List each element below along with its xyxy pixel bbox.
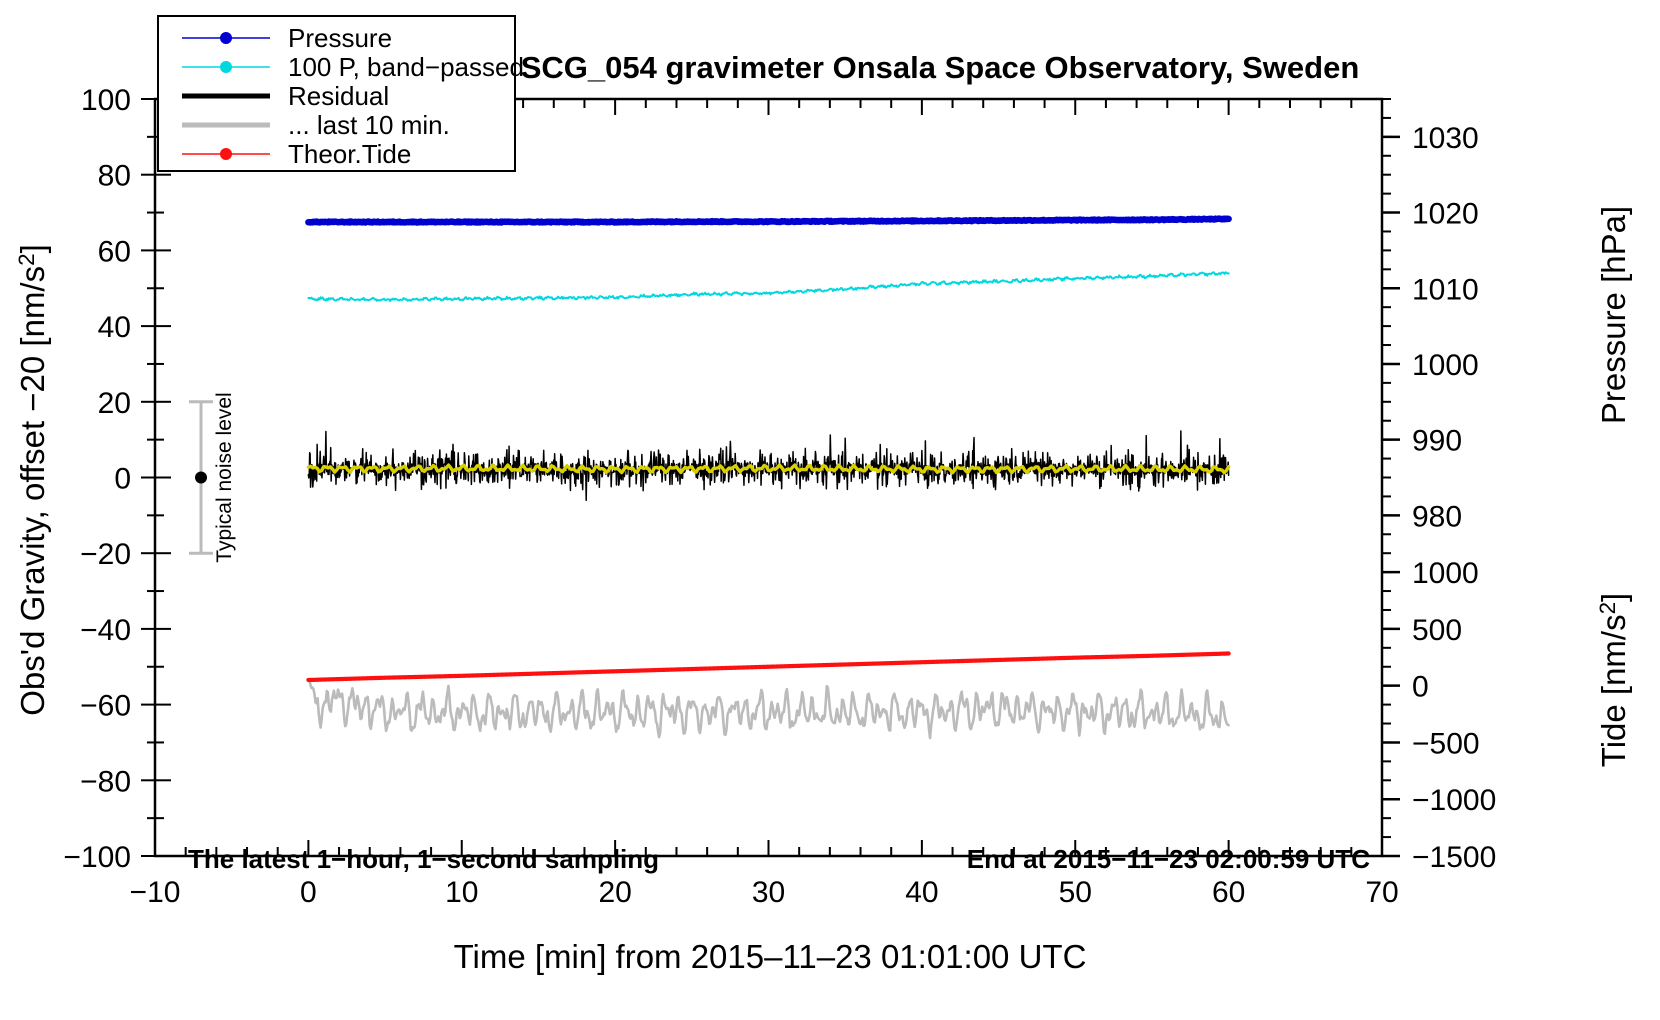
legend-item-label: Residual [288, 81, 389, 111]
y-tick-label: −20 [80, 538, 131, 571]
y-tick-label: 60 [98, 235, 131, 268]
svg-text:Obs'd Gravity, offset −20 [nm/: Obs'd Gravity, offset −20 [nm/s2] [14, 244, 51, 716]
noise-bar-center-dot [195, 472, 207, 484]
gravimeter-figure: −10010203040506070 100806040200−20−40−60… [0, 0, 1660, 1020]
legend-item-label: ... last 10 min. [288, 110, 450, 140]
legend-item-label: Theor.Tide [288, 139, 411, 169]
page-title: SCG_054 gravimeter Onsala Space Observat… [521, 50, 1360, 85]
tide-tick-label: −1500 [1412, 841, 1496, 874]
tide-tick-label: 0 [1412, 671, 1429, 704]
y-tick-label: −40 [80, 614, 131, 647]
y-tick-label: 0 [114, 463, 131, 496]
tide-tick-label: 1000 [1412, 557, 1479, 590]
y-axis-left-title: Obs'd Gravity, offset −20 [nm/s2] [14, 244, 51, 716]
y-tick-label: −80 [80, 765, 131, 798]
pressure-tick-label: 980 [1412, 500, 1462, 533]
pressure-tick-label: 1000 [1412, 349, 1479, 382]
end-time-annotation: End at 2015−11−23 02:00:59 UTC [967, 844, 1370, 874]
legend: Pressure100 P, band−passedResidual... la… [158, 16, 524, 171]
pressure-axis-title: Pressure [hPa] [1595, 206, 1632, 424]
trace-pressure [308, 219, 1228, 223]
y-tick-label: 40 [98, 311, 131, 344]
x-tick-label: −10 [130, 876, 181, 909]
pressure-tick-label: 1030 [1412, 122, 1479, 155]
svg-text:Tide [nm/s2]: Tide [nm/s2] [1595, 593, 1632, 767]
x-tick-label: 0 [300, 876, 317, 909]
tide-axis-title-exponent: 2 [1595, 602, 1620, 614]
x-tick-label: 40 [905, 876, 938, 909]
y-axis-left-title-tail: ] [14, 244, 51, 253]
x-tick-label: 30 [752, 876, 785, 909]
legend-line-with-dot-marker-icon [220, 148, 232, 160]
pressure-tick-label: 1020 [1412, 198, 1479, 231]
x-axis-title: Time [min] from 2015–11–23 01:01:00 UTC [454, 938, 1087, 975]
legend-item-label: 100 P, band−passed [288, 52, 524, 82]
legend-item-label: Pressure [288, 23, 392, 53]
x-tick-label: 50 [1059, 876, 1092, 909]
y-tick-label: 80 [98, 160, 131, 193]
legend-line-with-dot-marker-icon [220, 61, 232, 73]
tide-tick-label: 500 [1412, 614, 1462, 647]
tide-axis-title: Tide [nm/s2] [1595, 593, 1632, 767]
y-tick-label: −60 [80, 690, 131, 723]
x-tick-label: 70 [1365, 876, 1398, 909]
x-tick-label: 60 [1212, 876, 1245, 909]
y-axis-left-title-main: Obs'd Gravity, offset −20 [nm/s [14, 266, 51, 716]
tide-axis-title-main: Tide [nm/s [1595, 614, 1632, 767]
y-axis-left-title-exponent: 2 [14, 253, 39, 265]
pressure-tick-label: 990 [1412, 425, 1462, 458]
noise-level-label: Typical noise level [213, 392, 236, 562]
legend-line-with-dot-marker-icon [220, 32, 232, 44]
tide-tick-label: −500 [1412, 727, 1480, 760]
sampling-annotation: The latest 1−hour, 1−second sampling [188, 844, 659, 874]
chart-canvas: −10010203040506070 100806040200−20−40−60… [0, 0, 1660, 1020]
y-tick-label: 20 [98, 387, 131, 420]
tide-axis-title-tail: ] [1595, 593, 1632, 602]
x-tick-label: 20 [598, 876, 631, 909]
tide-tick-label: −1000 [1412, 784, 1496, 817]
pressure-tick-label: 1010 [1412, 273, 1479, 306]
x-tick-label: 10 [445, 876, 478, 909]
y-tick-label: 100 [81, 84, 131, 117]
pressure-axis-title-text: Pressure [hPa] [1595, 206, 1632, 424]
y-tick-label: −100 [63, 841, 131, 874]
